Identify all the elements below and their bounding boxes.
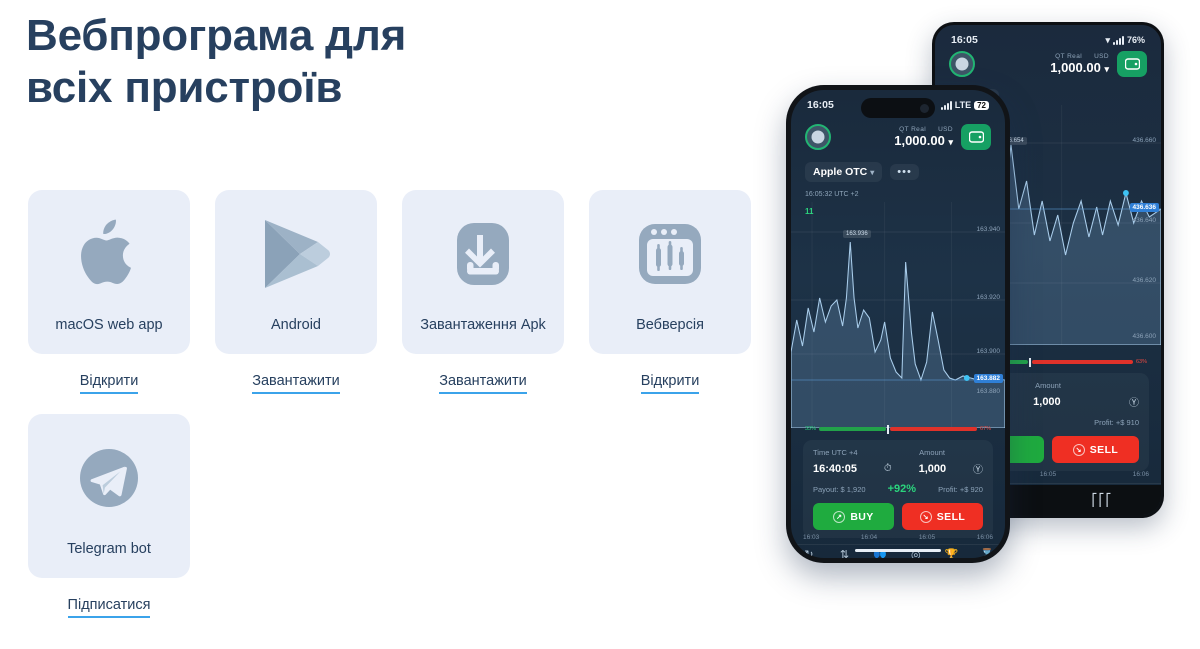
iphone-account-row: QT RealUSD 1,000.00 ▾ [791, 124, 1005, 150]
hourglass-icon: ⌛ [980, 550, 994, 558]
iphone-high-tag: 163.936 [843, 230, 871, 238]
download-icon [402, 190, 564, 318]
iphone-sentiment-bar: 33% 67% [805, 427, 991, 431]
card-link-macos[interactable]: Відкрити [28, 373, 190, 394]
iphone-trade-panel: Time UTC +4 Amount 16:40:05 ⏱ 1,000 Ⓨ Pa… [803, 440, 993, 538]
dollar-icon[interactable]: Ⓨ [1129, 394, 1139, 409]
iphone-amount-label: Amount [919, 448, 945, 457]
card-label: Android [271, 318, 321, 333]
card-link-apk[interactable]: Завантажити [402, 373, 564, 394]
iphone-y-label-3: 163.880 [977, 388, 1001, 395]
android-balance[interactable]: QT RealUSD 1,000.00 ▾ [1050, 54, 1109, 74]
android-status-bar: 16:05 ▾ 76% [935, 34, 1161, 46]
card-link-text: Відкрити [641, 373, 700, 394]
card-label: macOS web app [55, 318, 162, 333]
avatar[interactable] [805, 124, 831, 150]
iphone-chart: 163.940 163.920 163.900 163.880 163.882 … [791, 202, 1005, 428]
wifi-icon: ▾ [1105, 35, 1110, 46]
iphone-status-indicators: LTE 72 [941, 100, 989, 110]
iphone-time-label: Time UTC +4 [813, 448, 858, 457]
android-profit-label: Profit: +$ 910 [1094, 418, 1139, 427]
android-amount-label: Amount [1035, 381, 1061, 390]
card-link-text: Завантажити [439, 373, 527, 394]
iphone-screen: 16:05 LTE 72 QT RealUSD 1,000.00 ▾ [791, 90, 1005, 558]
android-sentiment-right: 63% [1136, 359, 1147, 365]
android-y-label-1: 436.640 [1133, 217, 1157, 224]
android-status-time: 16:05 [951, 34, 978, 46]
signals-icon: ⇅ [840, 550, 849, 558]
card-android-tile[interactable]: Android [215, 190, 377, 354]
card-macos-tile[interactable]: macOS web app [28, 190, 190, 354]
card-apk-tile[interactable]: Завантаження Apk [402, 190, 564, 354]
arrow-down-icon: ↘ [1073, 444, 1085, 456]
apple-icon [28, 190, 190, 318]
chevron-down-icon: ▾ [870, 168, 874, 177]
iphone-buy-button[interactable]: ↗ BUY [813, 503, 894, 530]
home-indicator[interactable] [855, 549, 941, 552]
iphone-time-axis: 16:03 16:04 16:05 16:06 [803, 534, 993, 541]
iphone-y-label-0: 163.940 [977, 226, 1001, 233]
iphone-sell-label: SELL [937, 511, 965, 523]
iphone-device: 16:05 LTE 72 QT RealUSD 1,000.00 ▾ [786, 85, 1010, 563]
android-sell-button[interactable]: ↘ SELL [1052, 436, 1139, 463]
network-type: LTE [955, 100, 971, 110]
google-play-icon [215, 190, 377, 318]
card-webversion: Вебверсія Відкрити [589, 190, 751, 394]
iphone-time-value[interactable]: 16:40:05 [813, 463, 857, 475]
card-label: Вебверсія [636, 318, 704, 333]
asset-selector[interactable]: Apple OTC▾ [805, 162, 882, 182]
recents-button-icon[interactable]: ⎡⎡⎡ [1092, 493, 1113, 507]
iphone-balance[interactable]: QT RealUSD 1,000.00 ▾ [894, 127, 953, 147]
iphone-more-icon[interactable]: ••• [890, 164, 919, 181]
android-account-row: QT RealUSD 1,000.00 ▾ [935, 51, 1161, 77]
iphone-payout-label: Payout: $ 1,920 [813, 485, 866, 494]
iphone-asset-row[interactable]: Apple OTC▾ ••• [805, 162, 919, 182]
card-android: Android Завантажити [215, 190, 377, 394]
card-label: Завантаження Apk [420, 318, 546, 333]
landing-page: Вебпрограма для всіх пристроїв macOS web… [0, 0, 1200, 649]
card-webversion-tile[interactable]: Вебверсія [589, 190, 751, 354]
iphone-y-label-2: 163.900 [977, 348, 1001, 355]
android-y-label-0: 436.660 [1133, 137, 1157, 144]
browser-chart-icon [589, 190, 751, 318]
iphone-buy-label: BUY [850, 511, 873, 523]
card-link-text: Завантажити [252, 373, 340, 394]
telegram-icon [28, 414, 190, 542]
nav-item-pending-trades[interactable]: ⌛Pending Trades [969, 550, 1005, 558]
card-telegram-tile[interactable]: Telegram bot [28, 414, 190, 578]
asset-name: Apple OTC [813, 166, 867, 178]
card-macos: macOS web app Відкрити [28, 190, 190, 394]
android-status-indicators: ▾ 76% [1105, 35, 1145, 46]
iphone-x-label-3: 16:06 [977, 534, 993, 541]
iphone-x-label-1: 16:04 [861, 534, 877, 541]
avatar[interactable] [949, 51, 975, 77]
clock-icon[interactable]: ⏱ [884, 463, 892, 474]
chevron-down-icon: ▾ [1104, 64, 1109, 74]
signal-icon [941, 101, 952, 110]
iphone-status-time: 16:05 [807, 99, 834, 111]
chevron-down-icon: ▾ [948, 137, 953, 147]
iphone-sell-button[interactable]: ↘ SELL [902, 503, 983, 530]
history-icon: ↻ [804, 550, 813, 558]
iphone-price-tag: 163.882 [974, 374, 1004, 383]
arrow-up-icon: ↗ [833, 511, 845, 523]
dollar-icon[interactable]: Ⓨ [973, 461, 983, 476]
android-battery-text: 76% [1127, 35, 1145, 45]
card-link-telegram[interactable]: Підписатися [28, 597, 190, 618]
card-apk: Завантаження Apk Завантажити [402, 190, 564, 394]
iphone-sentiment-left: 33% [805, 426, 816, 432]
iphone-timestamp: 16:05:32 UTC +2 [805, 191, 859, 198]
card-link-text: Підписатися [68, 597, 151, 618]
page-title: Вебпрограма для всіх пристроїв [26, 10, 406, 114]
iphone-x-label-0: 16:03 [803, 534, 819, 541]
arrow-down-icon: ↘ [920, 511, 932, 523]
iphone-y-label-1: 163.920 [977, 294, 1001, 301]
iphone-amount-value[interactable]: 1,000 [919, 463, 947, 475]
devices-mockup: 16:05 ▾ 76% QT RealUSD 1,000.00 ▾ [778, 0, 1200, 600]
iphone-x-label-2: 16:05 [919, 534, 935, 541]
card-telegram: Telegram bot Підписатися [28, 414, 190, 618]
iphone-sentiment-right: 67% [980, 426, 991, 432]
android-balance-value: 1,000.00 [1050, 60, 1101, 75]
card-label: Telegram bot [67, 542, 151, 557]
nav-item-trades[interactable]: ↻Trades [791, 550, 827, 558]
signal-icon [1113, 36, 1124, 45]
iphone-status-bar: 16:05 LTE 72 [791, 99, 1005, 111]
iphone-balance-value: 1,000.00 [894, 133, 945, 148]
android-y-label-3: 436.600 [1133, 333, 1157, 340]
android-price-tag: 436.636 [1130, 203, 1160, 212]
iphone-profit-label: Profit: +$ 920 [938, 485, 983, 494]
android-x-label-2: 16:06 [1133, 471, 1149, 478]
iphone-percent: +92% [888, 483, 916, 495]
android-y-label-2: 436.620 [1133, 277, 1157, 284]
wallet-icon[interactable] [1117, 51, 1147, 77]
android-amount-value[interactable]: 1,000 [1033, 396, 1061, 408]
trophy-icon: 🏆 [945, 550, 959, 558]
card-link-text: Відкрити [80, 373, 139, 394]
card-link-webversion[interactable]: Відкрити [589, 373, 751, 394]
card-link-android[interactable]: Завантажити [215, 373, 377, 394]
battery-icon: 72 [974, 101, 989, 110]
android-x-label-1: 16:05 [1040, 471, 1056, 478]
android-sell-label: SELL [1090, 444, 1118, 456]
wallet-icon[interactable] [961, 124, 991, 150]
